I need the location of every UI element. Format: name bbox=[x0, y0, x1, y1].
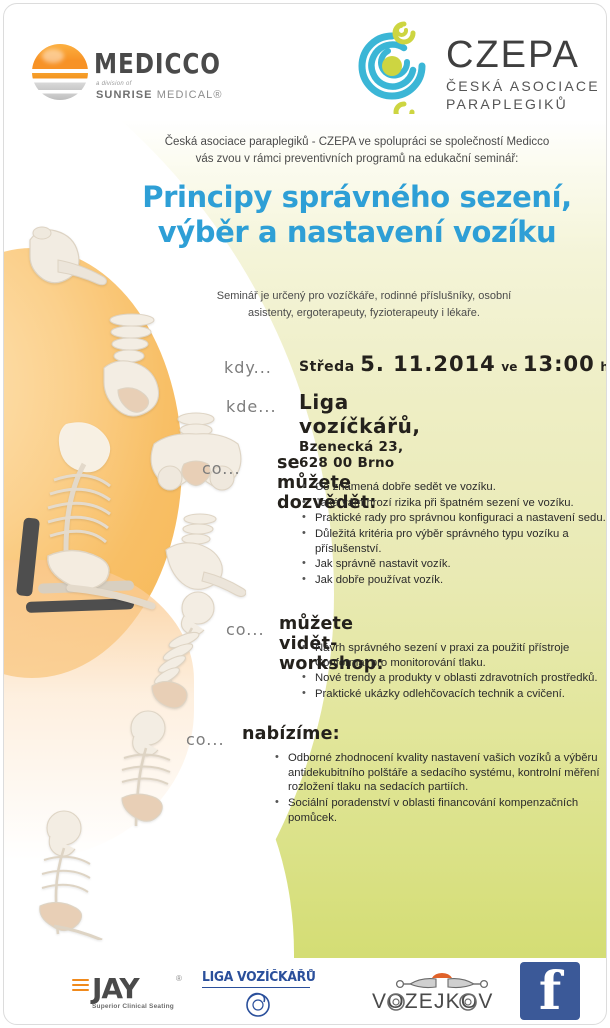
vozejkov-logo[interactable]: VOZEJKOV bbox=[372, 970, 512, 1018]
list-item: Jak dobře používat vozík. bbox=[315, 573, 606, 588]
list-item: Jak správně nastavit vozík. bbox=[315, 557, 606, 572]
headline-line-2: výběr a nastavení vozíku bbox=[114, 215, 600, 250]
when-label: kdy... bbox=[224, 358, 272, 377]
medicco-logo: MEDICCO a division of SUNRISE MEDICAL® bbox=[32, 42, 242, 104]
poster-body: Česká asociace paraplegiků - CZEPA ve sp… bbox=[4, 120, 606, 958]
section-2-list: Návrh správného sezení v praxi za použit… bbox=[299, 641, 606, 703]
list-item: Odborné zhodnocení kvality nastavení vaš… bbox=[288, 751, 606, 795]
audience-line-1: Seminář je určený pro vozíčkáře, rodinné… bbox=[174, 288, 554, 305]
when-unit: hod bbox=[600, 360, 606, 374]
czepa-subtitle-line2: PARAPLEGIKŮ bbox=[446, 96, 596, 114]
medicco-sunrise-text: SUNRISE MEDICAL® bbox=[96, 89, 223, 101]
section-1-list: Co znamená dobře sedět ve vozíku. Jaká v… bbox=[299, 480, 606, 589]
when-time: 13:00 bbox=[523, 352, 595, 376]
spine-pelvis-illustration-2 bbox=[90, 310, 186, 420]
intro-text: Česká asociace paraplegiků - CZEPA ve sp… bbox=[122, 134, 592, 167]
list-item: Návrh správného sezení v praxi za použit… bbox=[315, 641, 606, 670]
section-2-label: co... bbox=[226, 620, 265, 639]
facebook-logo[interactable]: f bbox=[520, 962, 580, 1020]
facebook-f-icon: f bbox=[539, 966, 561, 1018]
medicco-division-text: a division of bbox=[96, 81, 132, 87]
czepa-text-block: CZEPA ČESKÁ ASOCIACE PARAPLEGIKŮ bbox=[446, 36, 596, 113]
list-item: Sociální poradenství v oblasti financová… bbox=[288, 796, 606, 825]
czepa-wordmark: CZEPA bbox=[446, 36, 596, 74]
section-3-list: Odborné zhodnocení kvality nastavení vaš… bbox=[272, 751, 606, 826]
page-title: Principy správného sezení, výběr a nasta… bbox=[114, 180, 600, 250]
list-item: Důležitá kritéria pro výběr správného ty… bbox=[315, 527, 606, 556]
jay-logo[interactable]: JAY ® Superior Clinical Seating bbox=[72, 972, 202, 1016]
audience-line-2: asistenty, ergoterapeuty, fyzioterapeuty… bbox=[174, 305, 554, 322]
where-label: kde... bbox=[226, 397, 277, 416]
list-item: Praktické rady pro správnou konfiguraci … bbox=[315, 511, 606, 526]
intro-line-2: vás zvou v rámci preventivních programů … bbox=[122, 151, 592, 168]
list-item: Jaká vám hrozí rizika při špatném sezení… bbox=[315, 496, 606, 511]
audience-text: Seminář je určený pro vozíčkáře, rodinné… bbox=[174, 288, 554, 321]
liga-vozickaru-logo[interactable]: LIGA VOZÍČKÁŘŮ bbox=[202, 970, 322, 1018]
poster-root: MEDICCO a division of SUNRISE MEDICAL® bbox=[0, 0, 610, 1028]
medicco-wordmark: MEDICCO bbox=[94, 47, 221, 80]
when-connector: ve bbox=[501, 360, 517, 374]
medicco-sunrise-bold: SUNRISE bbox=[96, 89, 153, 101]
skeleton-side-illustration-7 bbox=[30, 810, 122, 940]
list-item: Praktické ukázky odlehčovacích technik a… bbox=[315, 687, 606, 702]
poster-footer: JAY ® Superior Clinical Seating LIGA VOZ… bbox=[4, 958, 606, 1024]
list-item: Co znamená dobře sedět ve vozíku. bbox=[315, 480, 606, 495]
vozejkov-wheel-icons bbox=[380, 992, 500, 1016]
when-value: Středa 5. 11.2014 ve 13:00 hod bbox=[299, 352, 606, 376]
section-3-label: co... bbox=[186, 730, 225, 749]
intro-line-1: Česká asociace paraplegiků - CZEPA ve sp… bbox=[122, 134, 592, 151]
when-day: Středa bbox=[299, 359, 355, 375]
jay-trademark-icon: ® bbox=[176, 974, 182, 983]
liga-wordmark: LIGA VOZÍČKÁŘŮ bbox=[202, 970, 316, 985]
medicco-sphere-icon bbox=[32, 44, 88, 100]
pelvis-bone-illustration-1 bbox=[12, 220, 108, 308]
medicco-sunrise-rest: MEDICAL® bbox=[157, 89, 223, 101]
czepa-spiral-icon bbox=[344, 18, 440, 114]
where-venue: Liga vozíčkářů, bbox=[299, 390, 421, 438]
headline-line-1: Principy správného sezení, bbox=[114, 180, 600, 215]
jay-wordmark: JAY bbox=[92, 972, 139, 1005]
jay-tagline: Superior Clinical Seating bbox=[92, 1003, 174, 1010]
czepa-logo: CZEPA ČESKÁ ASOCIACE PARAPLEGIKŮ bbox=[344, 18, 596, 114]
list-item: Nové trendy a produkty v oblasti zdravot… bbox=[315, 671, 606, 686]
when-date: 5. 11.2014 bbox=[360, 352, 496, 376]
section-3-heading: nabízíme: bbox=[242, 724, 340, 744]
section-1-label: co... bbox=[202, 459, 241, 478]
liga-wheelchair-icon bbox=[234, 988, 280, 1018]
seated-skeleton-illustration bbox=[14, 410, 174, 620]
jay-bars-icon bbox=[72, 979, 89, 993]
poster-header: MEDICCO a division of SUNRISE MEDICAL® bbox=[4, 4, 606, 120]
czepa-subtitle-line1: ČESKÁ ASOCIACE bbox=[446, 78, 596, 96]
